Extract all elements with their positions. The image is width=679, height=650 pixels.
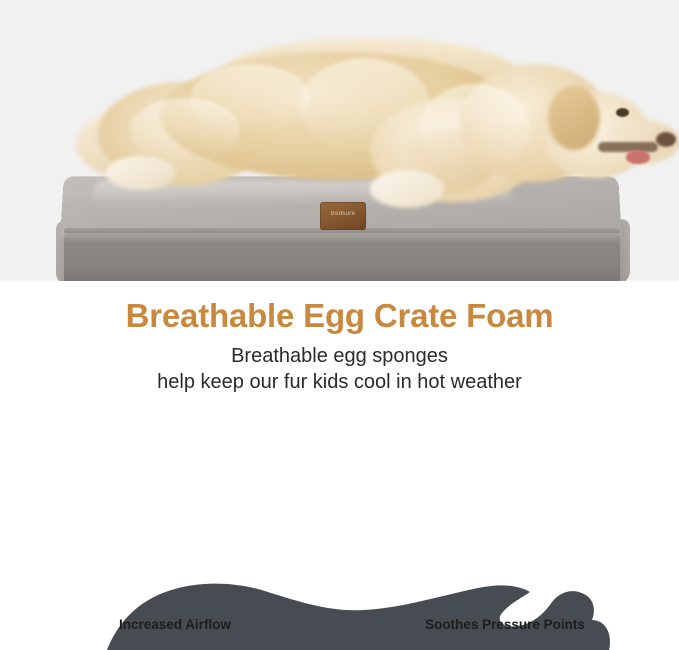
bed-front-highlight <box>64 233 620 243</box>
dog-front-paw <box>370 170 444 208</box>
fur-strand <box>420 84 530 172</box>
foam-diagram-svg <box>0 406 679 650</box>
golden-retriever-dog <box>70 24 630 214</box>
fur-strand <box>130 98 240 162</box>
product-photo: Bedsure <box>0 0 679 281</box>
caption-soothes-pressure-points: Soothes Pressure Points <box>390 617 620 632</box>
product-photo-panel: Bedsure <box>0 0 679 281</box>
foam-cross-section-diagram <box>0 406 679 650</box>
caption-increased-airflow: Increased Airflow <box>85 617 265 632</box>
subheadline-line-2: help keep our fur kids cool in hot weath… <box>0 369 679 395</box>
feature-headline: Breathable Egg Crate Foam <box>0 297 679 335</box>
feature-info-panel: Breathable Egg Crate Foam Breathable egg… <box>0 281 679 650</box>
dog-ear <box>548 86 600 150</box>
dog-tongue <box>626 150 650 164</box>
dog-rear-paw <box>106 156 176 190</box>
feature-subheadline: Breathable egg sponges help keep our fur… <box>0 343 679 395</box>
dog-nose <box>656 132 676 147</box>
subheadline-line-1: Breathable egg sponges <box>0 343 679 369</box>
dog-eye <box>616 108 629 117</box>
bed-front-panel <box>64 233 620 281</box>
dog-mouth <box>598 142 658 152</box>
fur-strand <box>300 58 430 154</box>
product-infographic: Bedsure <box>0 0 679 650</box>
